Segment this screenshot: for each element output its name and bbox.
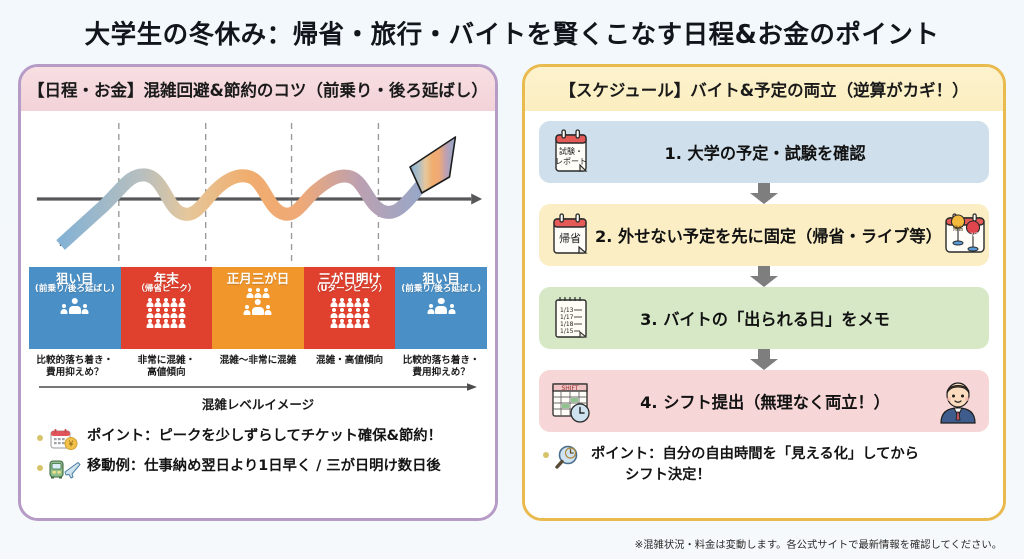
cell-caption: 非常に混雑・ 高値傾向	[121, 355, 213, 379]
schedule-step-label: 2. 外せない予定を先に固定（帰省・ライブ等）	[595, 223, 942, 247]
svg-text:帰省: 帰省	[952, 225, 963, 233]
crowd-people-icon	[244, 288, 272, 315]
right-bullet-line2: シフト決定！	[591, 465, 919, 486]
congestion-captions: 比較的落ち着き・ 費用抑えめ？ 非常に混雑・ 高値傾向 混雑～非常に混雑 混雑・…	[29, 355, 487, 379]
crowd-people-icon	[147, 298, 186, 329]
schedule-step-label: 4. シフト提出（無理なく両立！）	[595, 389, 935, 413]
calendar-kisei-icon: 帰省	[547, 210, 595, 260]
congestion-cell: 年末 （帰省ピーク）	[121, 267, 213, 349]
left-bullet-item: ¥ ポイント：ピークを少しずらしてチケット確保&節約！	[37, 427, 479, 450]
calendar-pins-icon: 帰省 LIVE	[942, 212, 988, 258]
svg-text:1/13: 1/13	[560, 307, 574, 314]
left-bullet-text: 移動例：仕事納め翌日より1日早く / 三が日明け数日後	[87, 457, 441, 476]
congestion-wave-chart	[29, 115, 487, 267]
svg-text:¥: ¥	[69, 440, 74, 449]
notepad-icon: 1/13 1/17 1/18 1/15	[547, 293, 595, 343]
left-panel-header: 【日程・お金】混雑回避&節約のコツ（前乗り・後ろ延ばし）	[21, 67, 495, 111]
flow-arrow-icon	[539, 349, 989, 370]
cell-subtitle: (前乗り/後ろ延ばし)	[35, 285, 115, 294]
right-bullets: ポイント：自分の自由時間を「見える化」してから シフト決定！	[525, 444, 1003, 485]
right-bullet-line1: ポイント：自分の自由時間を「見える化」してから	[591, 446, 919, 462]
cell-caption: 混雑・高値傾向	[304, 355, 396, 379]
congestion-axis-arrow	[39, 382, 477, 392]
congestion-axis-label: 混雑レベルイメージ	[21, 394, 495, 413]
cell-title: 正月三が日	[227, 272, 290, 285]
svg-text:1/18: 1/18	[560, 321, 574, 328]
step-right-spacer	[935, 129, 981, 175]
schedule-step-4[interactable]: SHIFT 4. シフト提出（無理なく両立！）	[539, 370, 989, 432]
crowd-people-icon	[61, 298, 89, 314]
infographic-root: 大学生の冬休み：帰省・旅行・バイトを賢くこなす日程&お金のポイント 【日程・お金…	[0, 0, 1024, 559]
right-bullet-item: ポイント：自分の自由時間を「見える化」してから シフト決定！	[543, 444, 985, 485]
congestion-cell: 狙い目 (前乗り/後ろ延ばし)	[395, 267, 487, 349]
calendar-exam-icon: 試験・ レポート	[547, 127, 595, 177]
schedule-step-2[interactable]: 帰省 2. 外せない予定を先に固定（帰省・ライブ等）	[539, 204, 989, 266]
schedule-step-label: 3. バイトの「出られる日」をメモ	[595, 306, 935, 330]
page-title: 大学生の冬休み：帰省・旅行・バイトを賢くこなす日程&お金のポイント	[0, 14, 1024, 51]
bullet-dot	[37, 465, 43, 471]
student-avatar-icon	[935, 378, 981, 424]
svg-text:試験・: 試験・	[559, 146, 583, 156]
footnote: ※混雑状況・料金は変動します。各公式サイトで最新情報を確認してください。	[635, 536, 1002, 551]
right-panel-header: 【スケジュール】バイト&予定の両立（逆算がカギ！）	[525, 67, 1003, 111]
schedule-step-3[interactable]: 1/13 1/17 1/18 1/15 3. バイトの「出られる日」をメモ	[539, 287, 989, 349]
schedule-steps: 試験・ レポート 1. 大学の予定・試験を確認	[525, 111, 1003, 432]
crowd-people-icon	[330, 298, 369, 329]
train-plane-icon	[48, 458, 82, 480]
congestion-cell: 三が日明け （Uターンピーク）	[304, 267, 396, 349]
step-right-spacer	[935, 295, 981, 341]
congestion-cells: 狙い目 (前乗り/後ろ延ばし) 年末 （帰省ピーク） 正	[29, 267, 487, 349]
congestion-cell: 正月三が日	[212, 267, 304, 349]
svg-text:1/17: 1/17	[560, 314, 574, 321]
cell-subtitle: （帰省ピーク）	[136, 285, 196, 294]
left-panel: 【日程・お金】混雑回避&節約のコツ（前乗り・後ろ延ばし）	[18, 64, 498, 521]
magnifier-clock-icon	[555, 445, 585, 469]
cell-caption: 比較的落ち着き・ 費用抑えめ？	[395, 355, 487, 379]
bullet-dot	[543, 452, 549, 458]
flow-arrow-icon	[539, 266, 989, 287]
right-panel-body: 試験・ レポート 1. 大学の予定・試験を確認	[525, 111, 1003, 518]
bullet-dot	[37, 435, 43, 441]
crowd-people-icon	[427, 298, 455, 314]
cell-subtitle: (前乗り/後ろ延ばし)	[401, 285, 481, 294]
cell-caption: 比較的落ち着き・ 費用抑えめ？	[29, 355, 121, 379]
schedule-step-1[interactable]: 試験・ レポート 1. 大学の予定・試験を確認	[539, 121, 989, 183]
svg-text:レポート: レポート	[555, 157, 587, 166]
svg-text:SHIFT: SHIFT	[561, 385, 578, 392]
cell-caption: 混雑～非常に混雑	[212, 355, 304, 379]
flow-arrow-icon	[539, 183, 989, 204]
left-bullet-text: ポイント：ピークを少しずらしてチケット確保&節約！	[87, 427, 442, 446]
left-bullets: ¥ ポイント：ピークを少しずらしてチケット確保&節約！	[21, 427, 495, 480]
svg-text:LIVE: LIVE	[967, 233, 978, 239]
calendar-yen-icon: ¥	[48, 428, 82, 450]
cell-subtitle: （Uターンピーク）	[312, 285, 387, 294]
svg-text:帰省: 帰省	[559, 232, 581, 245]
right-bullet-text: ポイント：自分の自由時間を「見える化」してから シフト決定！	[591, 444, 919, 485]
left-panel-body: 狙い目 (前乗り/後ろ延ばし) 年末 （帰省ピーク） 正	[21, 115, 495, 521]
shift-calendar-clock-icon: SHIFT	[547, 376, 595, 426]
schedule-step-label: 1. 大学の予定・試験を確認	[595, 140, 935, 164]
congestion-cell: 狙い目 (前乗り/後ろ延ばし)	[29, 267, 121, 349]
right-panel: 【スケジュール】バイト&予定の両立（逆算がカギ！） 試験・ レポート	[522, 64, 1006, 521]
svg-text:1/15: 1/15	[560, 328, 574, 335]
left-bullet-item: 移動例：仕事納め翌日より1日早く / 三が日明け数日後	[37, 457, 479, 480]
